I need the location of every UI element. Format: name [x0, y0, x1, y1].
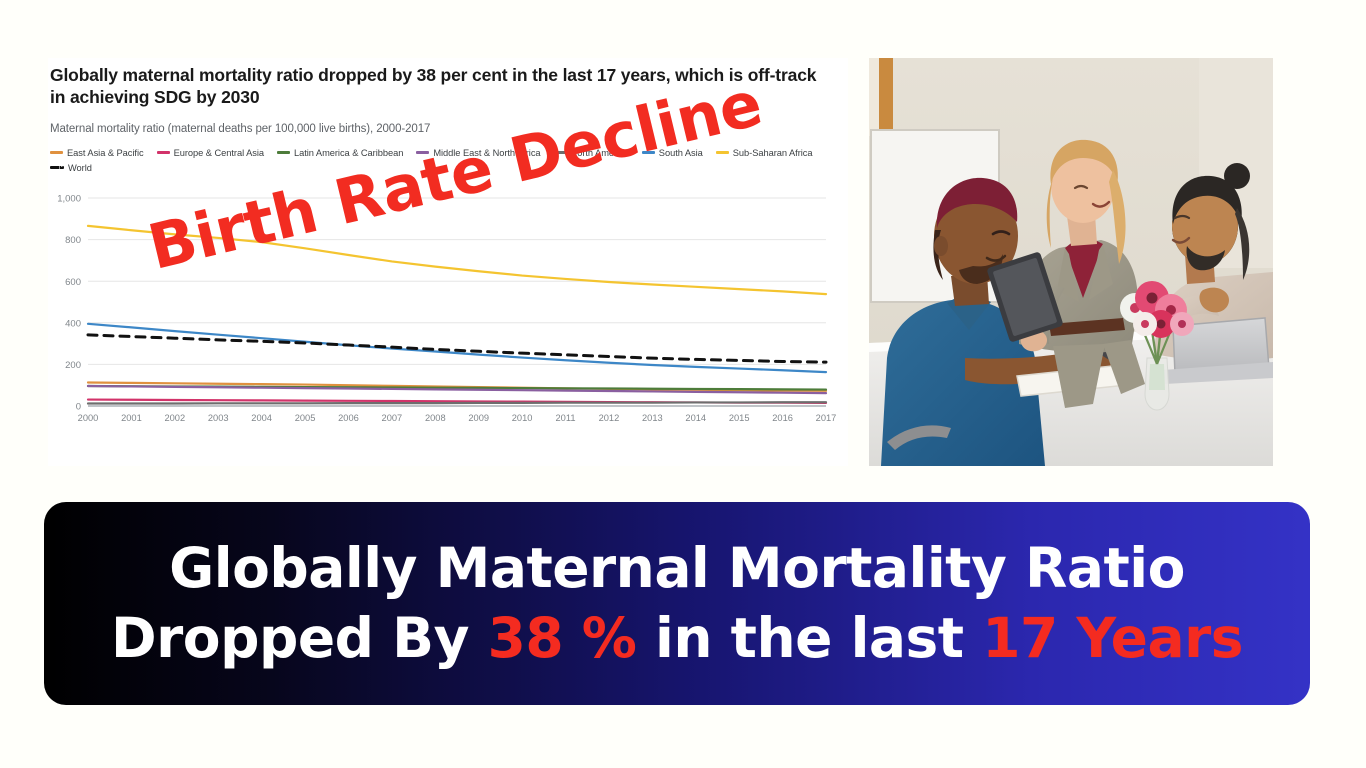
y-axis-tick-label: 600	[65, 277, 81, 288]
legend-label: Europe & Central Asia	[174, 148, 264, 158]
series-line	[88, 335, 826, 362]
legend-label: Middle East & North Africa	[433, 148, 540, 158]
y-axis-tick-label: 200	[65, 360, 81, 371]
x-axis-tick-label: 2013	[642, 413, 663, 423]
legend-label: East Asia & Pacific	[67, 148, 144, 158]
banner-text-in-the-last: in the last	[636, 606, 982, 670]
legend-swatch-icon	[416, 151, 429, 154]
x-axis-tick-label: 2014	[685, 413, 706, 423]
y-axis-tick-label: 400	[65, 318, 81, 329]
legend-row: East Asia & PacificEurope & Central Asia…	[50, 148, 830, 178]
x-axis-tick-label: 2016	[772, 413, 793, 423]
banner-line-2: Dropped By 38 % in the last 17 Years	[111, 609, 1243, 668]
x-axis-tick-label: 2003	[208, 413, 229, 423]
team-meeting-photo	[869, 58, 1273, 466]
y-axis-tick-label: 800	[65, 235, 81, 246]
legend-swatch-icon	[277, 151, 290, 154]
y-axis-tick-label: 0	[76, 401, 81, 412]
legend-swatch-icon	[50, 166, 64, 169]
legend-label: South Asia	[659, 148, 703, 158]
legend-item[interactable]: North America	[554, 148, 629, 158]
chart-legend: East Asia & PacificEurope & Central Asia…	[48, 135, 830, 178]
legend-swatch-icon	[642, 151, 655, 154]
series-line	[88, 402, 826, 403]
legend-swatch-icon	[716, 151, 729, 154]
legend-item[interactable]: South Asia	[642, 148, 703, 158]
chart-title: Globally maternal mortality ratio droppe…	[48, 58, 824, 109]
banner-text-dropped-by: Dropped By	[111, 606, 488, 670]
legend-label: World	[68, 163, 92, 173]
x-axis-tick-label: 2000	[78, 413, 99, 423]
legend-swatch-icon	[50, 151, 63, 154]
photo-illustration	[869, 58, 1273, 466]
x-axis-tick-label: 2017	[816, 413, 837, 423]
x-axis-tick-label: 2008	[425, 413, 446, 423]
legend-label: North America	[571, 148, 629, 158]
x-axis-tick-label: 2001	[121, 413, 142, 423]
x-axis-tick-label: 2007	[382, 413, 403, 423]
x-axis-tick-label: 2006	[338, 413, 359, 423]
chart-plot-area: 02004006008001,0002000200120022003200420…	[48, 188, 838, 428]
series-line	[88, 226, 826, 294]
legend-label: Sub-Saharan Africa	[733, 148, 813, 158]
x-axis-tick-label: 2012	[599, 413, 620, 423]
x-axis-tick-label: 2002	[164, 413, 185, 423]
banner-line-1: Globally Maternal Mortality Ratio	[169, 539, 1185, 598]
legend-swatch-icon	[157, 151, 170, 154]
banner-highlight-years: 17 Years	[982, 606, 1243, 670]
legend-item[interactable]: World	[50, 163, 92, 173]
line-chart-svg: 02004006008001,0002000200120022003200420…	[48, 188, 838, 428]
chart-subtitle: Maternal mortality ratio (maternal death…	[48, 109, 848, 135]
legend-item[interactable]: Latin America & Caribbean	[277, 148, 403, 158]
x-axis-tick-label: 2015	[729, 413, 750, 423]
x-axis-tick-label: 2004	[251, 413, 272, 423]
x-axis-tick-label: 2009	[468, 413, 489, 423]
infographic-canvas: Globally maternal mortality ratio droppe…	[0, 0, 1366, 768]
headline-banner: Globally Maternal Mortality Ratio Droppe…	[44, 502, 1310, 705]
x-axis-tick-label: 2005	[295, 413, 316, 423]
legend-item[interactable]: Sub-Saharan Africa	[716, 148, 813, 158]
legend-item[interactable]: East Asia & Pacific	[50, 148, 144, 158]
y-axis-tick-label: 1,000	[57, 193, 81, 204]
legend-item[interactable]: Middle East & North Africa	[416, 148, 540, 158]
chart-card: Globally maternal mortality ratio droppe…	[48, 58, 848, 466]
legend-item[interactable]: Europe & Central Asia	[157, 148, 264, 158]
legend-label: Latin America & Caribbean	[294, 148, 403, 158]
x-axis-tick-label: 2010	[512, 413, 533, 423]
legend-swatch-icon	[554, 151, 567, 154]
banner-highlight-percent: 38 %	[488, 606, 637, 670]
x-axis-tick-label: 2011	[556, 413, 576, 423]
